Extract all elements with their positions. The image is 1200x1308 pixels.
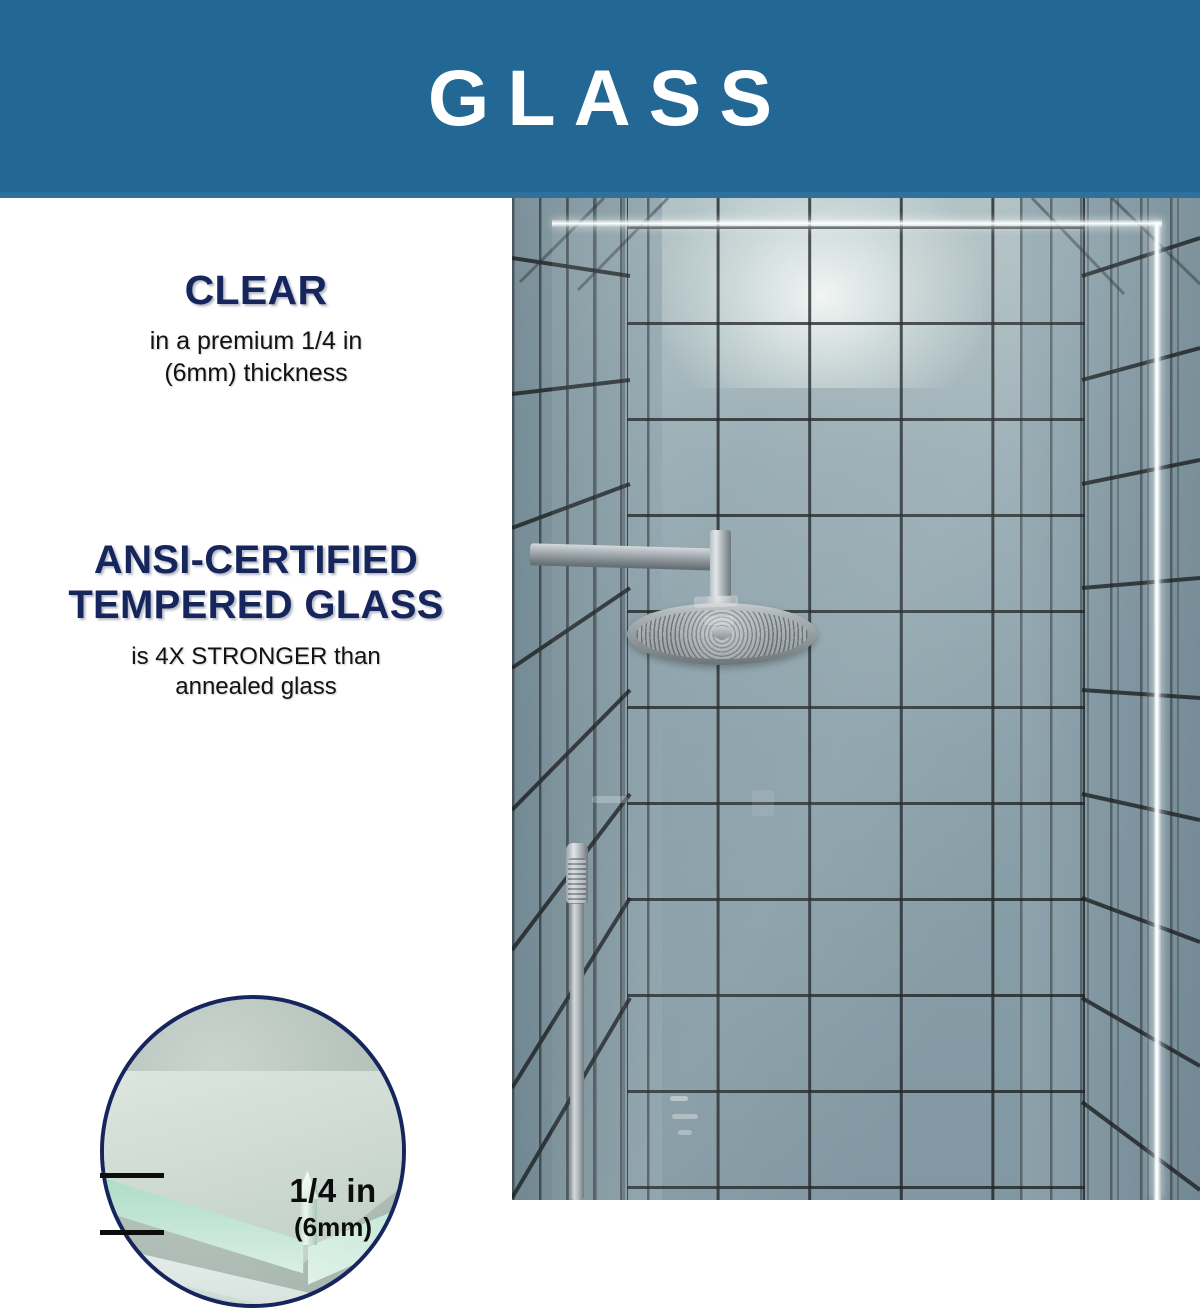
feature-tempered: ANSI-CERTIFIED TEMPERED GLASS is 4X STRO…: [0, 538, 512, 703]
feature-tempered-heading-line-1: ANSI-CERTIFIED: [0, 538, 512, 583]
handheld-shower-wand-grip: [568, 858, 586, 904]
feature-clear-subtext-line-2: (6mm) thickness: [0, 357, 512, 389]
thickness-diagram: [100, 995, 406, 1308]
wall-reflection: [592, 796, 628, 803]
shower-neck-icon: [710, 530, 731, 602]
wall-reflection: [678, 1130, 692, 1135]
thickness-label: 1/4 in (6mm): [268, 1174, 398, 1240]
feature-tempered-heading: ANSI-CERTIFIED TEMPERED GLASS: [0, 538, 512, 628]
feature-tempered-subtext: is 4X STRONGER than annealed glass: [0, 642, 512, 703]
thickness-diagram-circle: [100, 995, 406, 1308]
header-banner: GLASS: [0, 0, 1200, 198]
wall-reflection: [670, 1096, 688, 1101]
glass-panel-edge: [1153, 222, 1161, 1200]
thickness-label-imperial: 1/4 in: [268, 1174, 398, 1207]
feature-clear-subtext-line-1: in a premium 1/4 in: [0, 325, 512, 357]
feature-clear-subtext: in a premium 1/4 in (6mm) thickness: [0, 325, 512, 389]
wall-reflection: [672, 1114, 698, 1119]
feature-tempered-subtext-line-1: is 4X STRONGER than: [0, 642, 512, 673]
shower-enclosure-photo: [512, 198, 1200, 1200]
feature-clear-heading: CLEAR: [0, 268, 512, 312]
page-title: GLASS: [410, 58, 790, 141]
wall-reflection: [694, 595, 738, 608]
left-content-column: CLEAR in a premium 1/4 in (6mm) thicknes…: [0, 198, 512, 1200]
perspective-grout-lines: [512, 198, 1200, 1200]
wall-reflection: [752, 790, 774, 816]
feature-clear: CLEAR in a premium 1/4 in (6mm) thicknes…: [0, 268, 512, 389]
wall-reflection: [704, 616, 734, 625]
dimension-line-top: [100, 1173, 164, 1178]
thickness-label-metric: (6mm): [268, 1214, 398, 1240]
shower-head-hub: [712, 626, 732, 639]
feature-tempered-subtext-line-2: annealed glass: [0, 672, 512, 703]
feature-tempered-heading-line-2: TEMPERED GLASS: [0, 583, 512, 628]
glass-panel-top-edge: [552, 220, 1162, 227]
dimension-line-bottom: [100, 1230, 164, 1235]
